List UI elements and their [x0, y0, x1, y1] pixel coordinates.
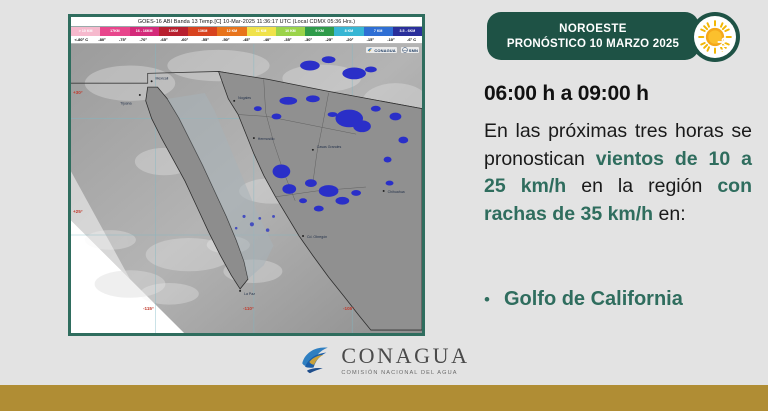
svg-text:Nogales: Nogales	[238, 96, 251, 100]
region-name: NOROESTE	[559, 23, 627, 35]
scale-tick-0: <-80° C	[71, 36, 92, 43]
scale-segment-7: 10 KM	[276, 27, 305, 36]
org-subtitle: COMISIÓN NACIONAL DEL AGUA	[341, 370, 469, 376]
lat-label-25: +25°	[73, 209, 83, 214]
forecast-panel: NOROESTE PRONÓSTICO 10 MARZO 2025	[470, 0, 768, 385]
scale-tick-13: -20°	[339, 36, 360, 43]
forecast-header-banner: NOROESTE PRONÓSTICO 10 MARZO 2025	[487, 12, 699, 60]
scale-tick-6: -55°	[195, 36, 216, 43]
org-name: CONAGUA	[341, 343, 469, 369]
scale-tick-3: -70°	[133, 36, 154, 43]
region-golfo-de-california: Golfo de California	[504, 288, 683, 311]
temperature-scale-ticks: <-80° C-80°-75°-70°-65°-60°-55°-50°-45°-…	[71, 36, 422, 44]
smn-map-logo: SMN	[401, 47, 419, 53]
scale-segment-6: 11 KM	[247, 27, 276, 36]
scale-tick-15: -10°	[381, 36, 402, 43]
scale-tick-11: -30°	[298, 36, 319, 43]
scale-tick-5: -60°	[174, 36, 195, 43]
affected-region-item: • Golfo de California	[484, 288, 760, 311]
bottom-gold-bar	[0, 385, 768, 411]
conagua-wave-icon	[367, 47, 373, 53]
temperature-color-scale: > 10 KM17KM16 - 16KM14KM13KM12 KM11 KM10…	[71, 27, 422, 36]
smn-emblem-icon	[402, 47, 408, 53]
conagua-wordmark: CONAGUA COMISIÓN NACIONAL DEL AGUA	[341, 343, 469, 376]
scale-tick-1: -80°	[92, 36, 113, 43]
forecast-date: PRONÓSTICO 10 MARZO 2025	[507, 38, 679, 50]
lon-label-110: -110°	[243, 306, 254, 311]
svg-text:Cd. Obregón: Cd. Obregón	[307, 235, 327, 239]
scale-tick-9: -40°	[257, 36, 278, 43]
scale-segment-11: 3.5 - 6KM	[393, 27, 422, 36]
scale-tick-7: -50°	[215, 36, 236, 43]
svg-text:Chihuahua: Chihuahua	[388, 190, 405, 194]
sun-wind-icon	[695, 17, 735, 57]
scale-tick-8: -45°	[236, 36, 257, 43]
lat-label-30: +30°	[73, 90, 83, 95]
map-agency-logos: CONAGUA SMN	[366, 47, 419, 53]
scale-tick-2: -75°	[112, 36, 133, 43]
svg-text:Tijuana: Tijuana	[120, 102, 131, 106]
lon-label-115: -115°	[143, 306, 154, 311]
forecast-description: En las próximas tres horas se pronostica…	[484, 118, 752, 229]
weather-icon-badge	[690, 12, 740, 62]
forecast-text-3: en:	[653, 203, 686, 225]
svg-text:Hermosillo: Hermosillo	[258, 137, 275, 141]
scale-segment-5: 12 KM	[217, 27, 246, 36]
scale-tick-4: -65°	[154, 36, 175, 43]
scale-tick-14: -15°	[360, 36, 381, 43]
scale-segment-8: 9 KM	[305, 27, 334, 36]
lon-label-105: -105°	[343, 306, 354, 311]
scale-tick-12: -25°	[319, 36, 340, 43]
svg-text:Mexicali: Mexicali	[156, 76, 169, 80]
scale-segment-0: > 10 KM	[71, 27, 100, 36]
scale-segment-2: 16 - 16KM	[130, 27, 159, 36]
scale-segment-1: 17KM	[100, 27, 129, 36]
forecast-time-range: 06:00 h a 09:00 h	[484, 82, 649, 106]
forecast-text-2: en la región	[566, 175, 717, 197]
svg-text:Casas Grandes: Casas Grandes	[317, 145, 342, 149]
footer-branding: CONAGUA COMISIÓN NACIONAL DEL AGUA	[0, 333, 768, 385]
svg-text:La Paz: La Paz	[244, 292, 255, 296]
bullet-marker: •	[484, 291, 490, 308]
conagua-logo-icon	[298, 342, 332, 376]
map-canvas[interactable]: Mexicali Tijuana Nogales Hermosillo Casa…	[71, 44, 422, 333]
scale-segment-9: 8 KM	[334, 27, 363, 36]
map-title: GOES-16 ABI Banda 13 Temp.[C] 10-Mar-202…	[71, 17, 422, 27]
scale-segment-10: 7 KM	[364, 27, 393, 36]
satellite-map-panel[interactable]: GOES-16 ABI Banda 13 Temp.[C] 10-Mar-202…	[68, 14, 425, 336]
scale-segment-4: 13KM	[188, 27, 217, 36]
scale-segment-3: 14KM	[159, 27, 188, 36]
scale-tick-10: -35°	[277, 36, 298, 43]
scale-tick-16: -6° C	[401, 36, 422, 43]
conagua-map-logo: CONAGUA	[366, 47, 396, 53]
